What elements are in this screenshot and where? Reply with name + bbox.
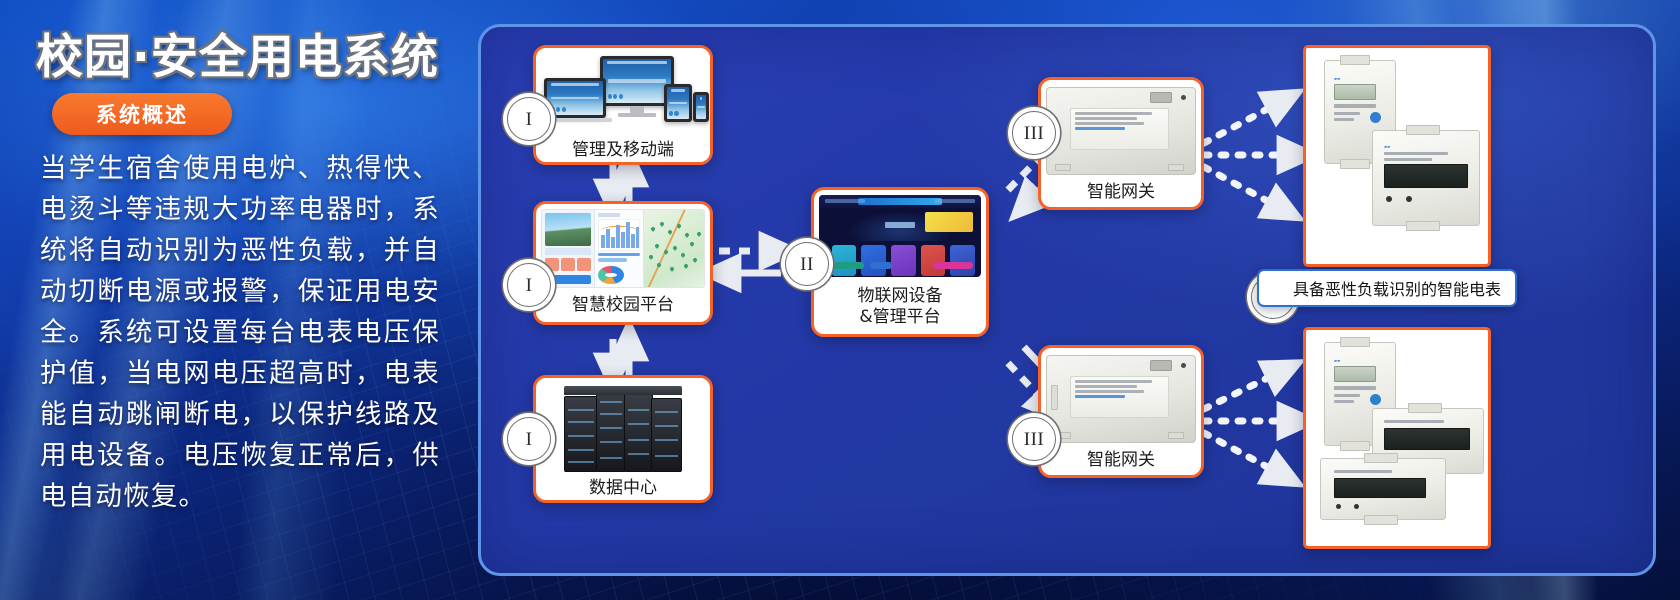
monitor-stand bbox=[630, 106, 644, 113]
meter-lcd-display-2 bbox=[1334, 366, 1376, 382]
meter-text-strip-2b bbox=[1334, 400, 1354, 403]
gateway-side-terminal-bottom bbox=[1051, 385, 1058, 410]
gateway-din-clip-bottom-right bbox=[1168, 432, 1184, 439]
meter-brand-logo: ▰▰ bbox=[1334, 76, 1340, 81]
numeral-badge-iot-platform: II bbox=[785, 242, 829, 286]
node-gateway-top[interactable]: 智能网关 bbox=[1038, 77, 1204, 210]
desktop-monitor-icon bbox=[600, 56, 674, 106]
connector-campus-iot bbox=[719, 251, 781, 273]
dashboard-bar-chart bbox=[598, 219, 640, 251]
dashboard-chip bbox=[545, 248, 591, 255]
diagram-panel: 管理及移动端 I bbox=[478, 24, 1656, 576]
meter-group-bottom[interactable]: ▰▰ bbox=[1303, 327, 1491, 549]
meter-text-strip-wide-2a bbox=[1384, 420, 1444, 423]
meter-text-strip-wide-b bbox=[1384, 158, 1432, 161]
node-admin-mobile-label: 管理及移动端 bbox=[572, 140, 674, 162]
numeral-badge-gateway-top-text: III bbox=[1024, 124, 1044, 143]
meter-lcd-display-wide-2 bbox=[1384, 428, 1470, 450]
dashboard-photo bbox=[545, 213, 591, 246]
meter-top-clip bbox=[1340, 55, 1370, 65]
dashboard-progress-a bbox=[598, 253, 640, 257]
dashboard-quick-buttons bbox=[545, 258, 591, 271]
rack-unit-4 bbox=[651, 398, 682, 472]
numeral-badge-campus-platform: I bbox=[507, 263, 551, 307]
numeral-badge-gateway-top: III bbox=[1012, 111, 1056, 155]
meter-wide-top-clip bbox=[1406, 125, 1440, 135]
tablet-icon bbox=[664, 84, 692, 122]
meter-wide-bottom-clip bbox=[1406, 221, 1440, 231]
meter-bottom-clip-2 bbox=[1340, 441, 1370, 451]
gateway-faceplate-top bbox=[1070, 108, 1169, 150]
meter-extra-top-clip bbox=[1364, 453, 1398, 463]
section-badge: 系统概述 bbox=[52, 93, 232, 135]
rack-unit-3 bbox=[624, 394, 653, 472]
numeral-badge-data-center-text: I bbox=[526, 430, 533, 449]
meter-text-strip-2a bbox=[1334, 394, 1360, 397]
iot-dashboard-footer bbox=[830, 261, 973, 270]
gateway-din-clip-top-left bbox=[1055, 164, 1071, 171]
callout-smart-meter[interactable]: 具备恶性负载识别的智能电表 bbox=[1257, 269, 1517, 307]
numeral-badge-iot-platform-text: II bbox=[800, 255, 814, 274]
laptop-icon bbox=[544, 78, 606, 118]
node-admin-mobile[interactable]: 管理及移动端 bbox=[533, 45, 713, 165]
meter-bottom-clip bbox=[1340, 159, 1370, 169]
node-gateway-bottom-label: 智能网关 bbox=[1087, 450, 1155, 472]
gateway-usb-port-top bbox=[1150, 92, 1172, 103]
rack-top-panel bbox=[564, 386, 682, 395]
numeral-badge-gateway-bottom-text: III bbox=[1024, 430, 1044, 449]
gateway-led-top bbox=[1181, 95, 1186, 100]
page-title: 校园·安全用电系统 bbox=[36, 18, 439, 87]
connector-gateway-bottom-meters bbox=[1204, 369, 1299, 477]
callout-smart-meter-label: 具备恶性负载识别的智能电表 bbox=[1293, 276, 1501, 300]
iot-dashboard-image bbox=[819, 195, 981, 277]
connector-admin-campus bbox=[613, 165, 629, 201]
monitor-cluster-image bbox=[536, 54, 710, 136]
meter-led-b bbox=[1406, 196, 1412, 202]
overview-paragraph: 当学生宿舍使用电炉、热得快、电烫斗等违规大功率电器时，系统将自动识别为恶性负载，… bbox=[40, 148, 440, 517]
meter-group-top[interactable]: ▰▰ ▰▰ bbox=[1303, 45, 1491, 267]
meter-lcd-display-wide bbox=[1384, 164, 1468, 188]
gateway-usb-port-bottom bbox=[1150, 360, 1172, 371]
numeral-badge-gateway-bottom: III bbox=[1012, 417, 1056, 461]
meter-text-strip-wide-a bbox=[1384, 152, 1448, 155]
meter-lcd-display bbox=[1334, 84, 1376, 100]
gateway-din-clip-top-right bbox=[1168, 164, 1184, 171]
gateway-faceplate-bottom bbox=[1070, 376, 1169, 418]
section-badge-label: 系统概述 bbox=[96, 99, 188, 129]
gateway-device-image-bottom bbox=[1046, 355, 1196, 443]
node-data-center-label: 数据中心 bbox=[589, 478, 657, 500]
dashboard-donut-chart bbox=[598, 266, 624, 285]
meter-extra-bottom-clip bbox=[1364, 515, 1398, 525]
connector-campus-datacenter bbox=[613, 339, 629, 375]
numeral-badge-admin-mobile: I bbox=[507, 97, 551, 141]
numeral-badge-campus-platform-text: I bbox=[526, 276, 533, 295]
meter-brand-logo-wide: ▰▰ bbox=[1384, 144, 1390, 149]
meter-led-a bbox=[1386, 196, 1392, 202]
meter-lcd-display-extra bbox=[1334, 478, 1426, 498]
meter-reset-button bbox=[1370, 112, 1381, 123]
campus-map bbox=[644, 210, 704, 287]
dashboard-sidebar bbox=[542, 210, 595, 287]
monitor-base bbox=[618, 113, 656, 117]
dashboard-progress-b bbox=[598, 258, 626, 262]
meter-din-bottom-extra bbox=[1320, 458, 1446, 520]
meter-three-phase-top: ▰▰ bbox=[1372, 130, 1480, 226]
meter-text-strip-b bbox=[1334, 118, 1354, 121]
node-campus-platform-label: 智慧校园平台 bbox=[572, 295, 674, 317]
dashboard-charts bbox=[595, 210, 644, 287]
meter-text-strip-extra bbox=[1334, 470, 1392, 473]
meter-wide-top-clip-2 bbox=[1408, 403, 1442, 413]
iot-dashboard-alert-note bbox=[925, 212, 973, 232]
meter-text-strip-a bbox=[1334, 112, 1360, 115]
node-gateway-bottom[interactable]: 智能网关 bbox=[1038, 345, 1204, 478]
gateway-device-image-top bbox=[1046, 87, 1196, 175]
meter-reset-button-2 bbox=[1370, 394, 1381, 405]
rack-unit-1 bbox=[564, 396, 598, 472]
meter-button-strip-2 bbox=[1334, 386, 1376, 390]
node-data-center[interactable]: 数据中心 bbox=[533, 375, 713, 503]
gateway-led-bottom bbox=[1181, 363, 1186, 368]
gateway-din-clip-bottom-left bbox=[1055, 432, 1071, 439]
node-iot-platform-label-line2: &管理平台 bbox=[859, 307, 940, 329]
node-gateway-top-label: 智能网关 bbox=[1087, 182, 1155, 204]
iot-dashboard-header bbox=[819, 195, 981, 208]
campus-dashboard-image bbox=[541, 209, 705, 288]
node-iot-platform-label-line1: 物联网设备 bbox=[858, 286, 943, 308]
node-iot-platform[interactable]: 物联网设备 &管理平台 bbox=[811, 187, 989, 337]
meter-led-extra-b bbox=[1354, 504, 1359, 509]
rack-unit-2 bbox=[596, 390, 626, 472]
phone-icon bbox=[693, 92, 709, 122]
numeral-badge-data-center: I bbox=[507, 417, 551, 461]
meter-brand-logo-2: ▰▰ bbox=[1334, 358, 1340, 363]
meter-button-strip bbox=[1334, 104, 1376, 108]
meter-top-clip-2 bbox=[1340, 337, 1370, 347]
server-rack-image bbox=[564, 386, 682, 472]
numeral-badge-admin-mobile-text: I bbox=[526, 110, 533, 129]
node-campus-platform[interactable]: 智慧校园平台 bbox=[533, 201, 713, 325]
intro-column: 校园·安全用电系统 系统概述 当学生宿舍使用电炉、热得快、电烫斗等违规大功率电器… bbox=[0, 0, 470, 600]
connector-gateway-top-meters bbox=[1204, 99, 1299, 211]
meter-led-extra-a bbox=[1336, 504, 1341, 509]
dashboard-primary-button bbox=[545, 275, 591, 284]
dashboard-chart-title bbox=[598, 213, 620, 217]
